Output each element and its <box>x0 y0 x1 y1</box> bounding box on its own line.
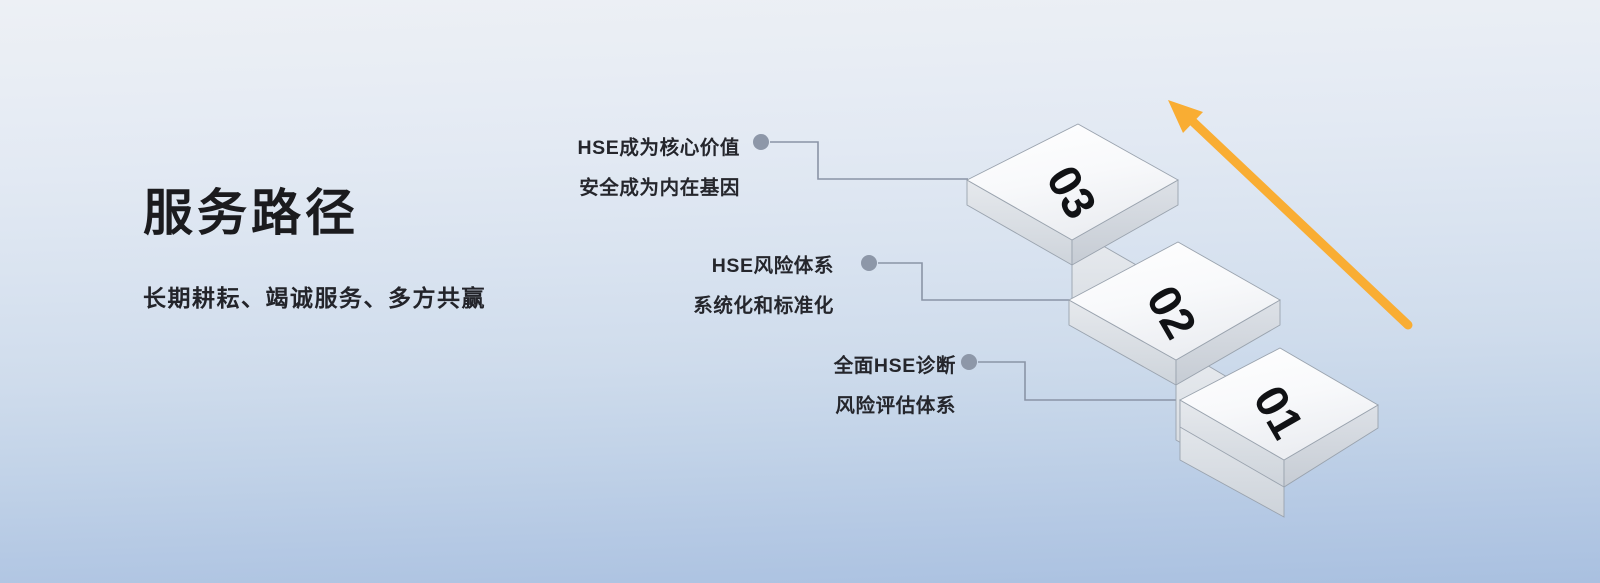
connector-dot-icon <box>961 354 977 370</box>
slide-stage: 服务路径 长期耕耘、竭诚服务、多方共赢 HSE成为核心价值 安全成为内在基因 H… <box>0 0 1600 583</box>
connector-dot-icon <box>861 255 877 271</box>
connector-dot-icon <box>753 134 769 150</box>
connector-line-02 <box>861 255 1069 300</box>
connector-line-03 <box>753 134 968 179</box>
isometric-staircase-graphic: 03 02 01 <box>0 0 1600 583</box>
